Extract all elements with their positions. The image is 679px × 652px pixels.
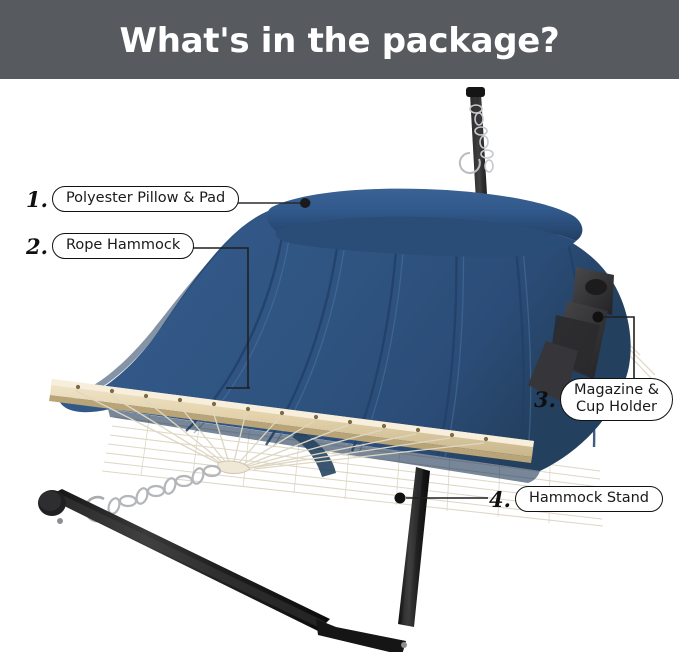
callout-1-number: 1.	[26, 189, 48, 210]
product-illustration	[0, 79, 679, 652]
page-title: What's in the package?	[120, 21, 560, 61]
callout-1[interactable]: 1. Polyester Pillow & Pad	[26, 186, 239, 212]
header-banner: What's in the package?	[0, 0, 679, 79]
callout-2[interactable]: 2. Rope Hammock	[26, 233, 194, 259]
hammock-artwork	[0, 79, 679, 652]
callout-4-number: 4.	[489, 489, 511, 510]
pillow-grommet	[302, 199, 311, 208]
callout-3[interactable]: 3. Magazine & Cup Holder	[534, 378, 673, 421]
callout-3-label-line-2: Cup Holder	[574, 399, 659, 416]
callout-3-label-line-1: Magazine &	[574, 382, 659, 399]
callout-2-number: 2.	[26, 236, 48, 257]
infographic-page: What's in the package?	[0, 0, 679, 652]
polyester-pillow	[267, 189, 582, 257]
callout-2-label: Rope Hammock	[52, 233, 194, 259]
callout-3-number: 3.	[534, 389, 556, 410]
pole-cap	[466, 87, 485, 97]
callout-4-label: Hammock Stand	[515, 486, 663, 512]
hammock-stand	[38, 467, 468, 652]
callout-1-label: Polyester Pillow & Pad	[52, 186, 239, 212]
callout-4[interactable]: 4. Hammock Stand	[489, 486, 663, 512]
callout-3-label: Magazine & Cup Holder	[560, 378, 673, 421]
